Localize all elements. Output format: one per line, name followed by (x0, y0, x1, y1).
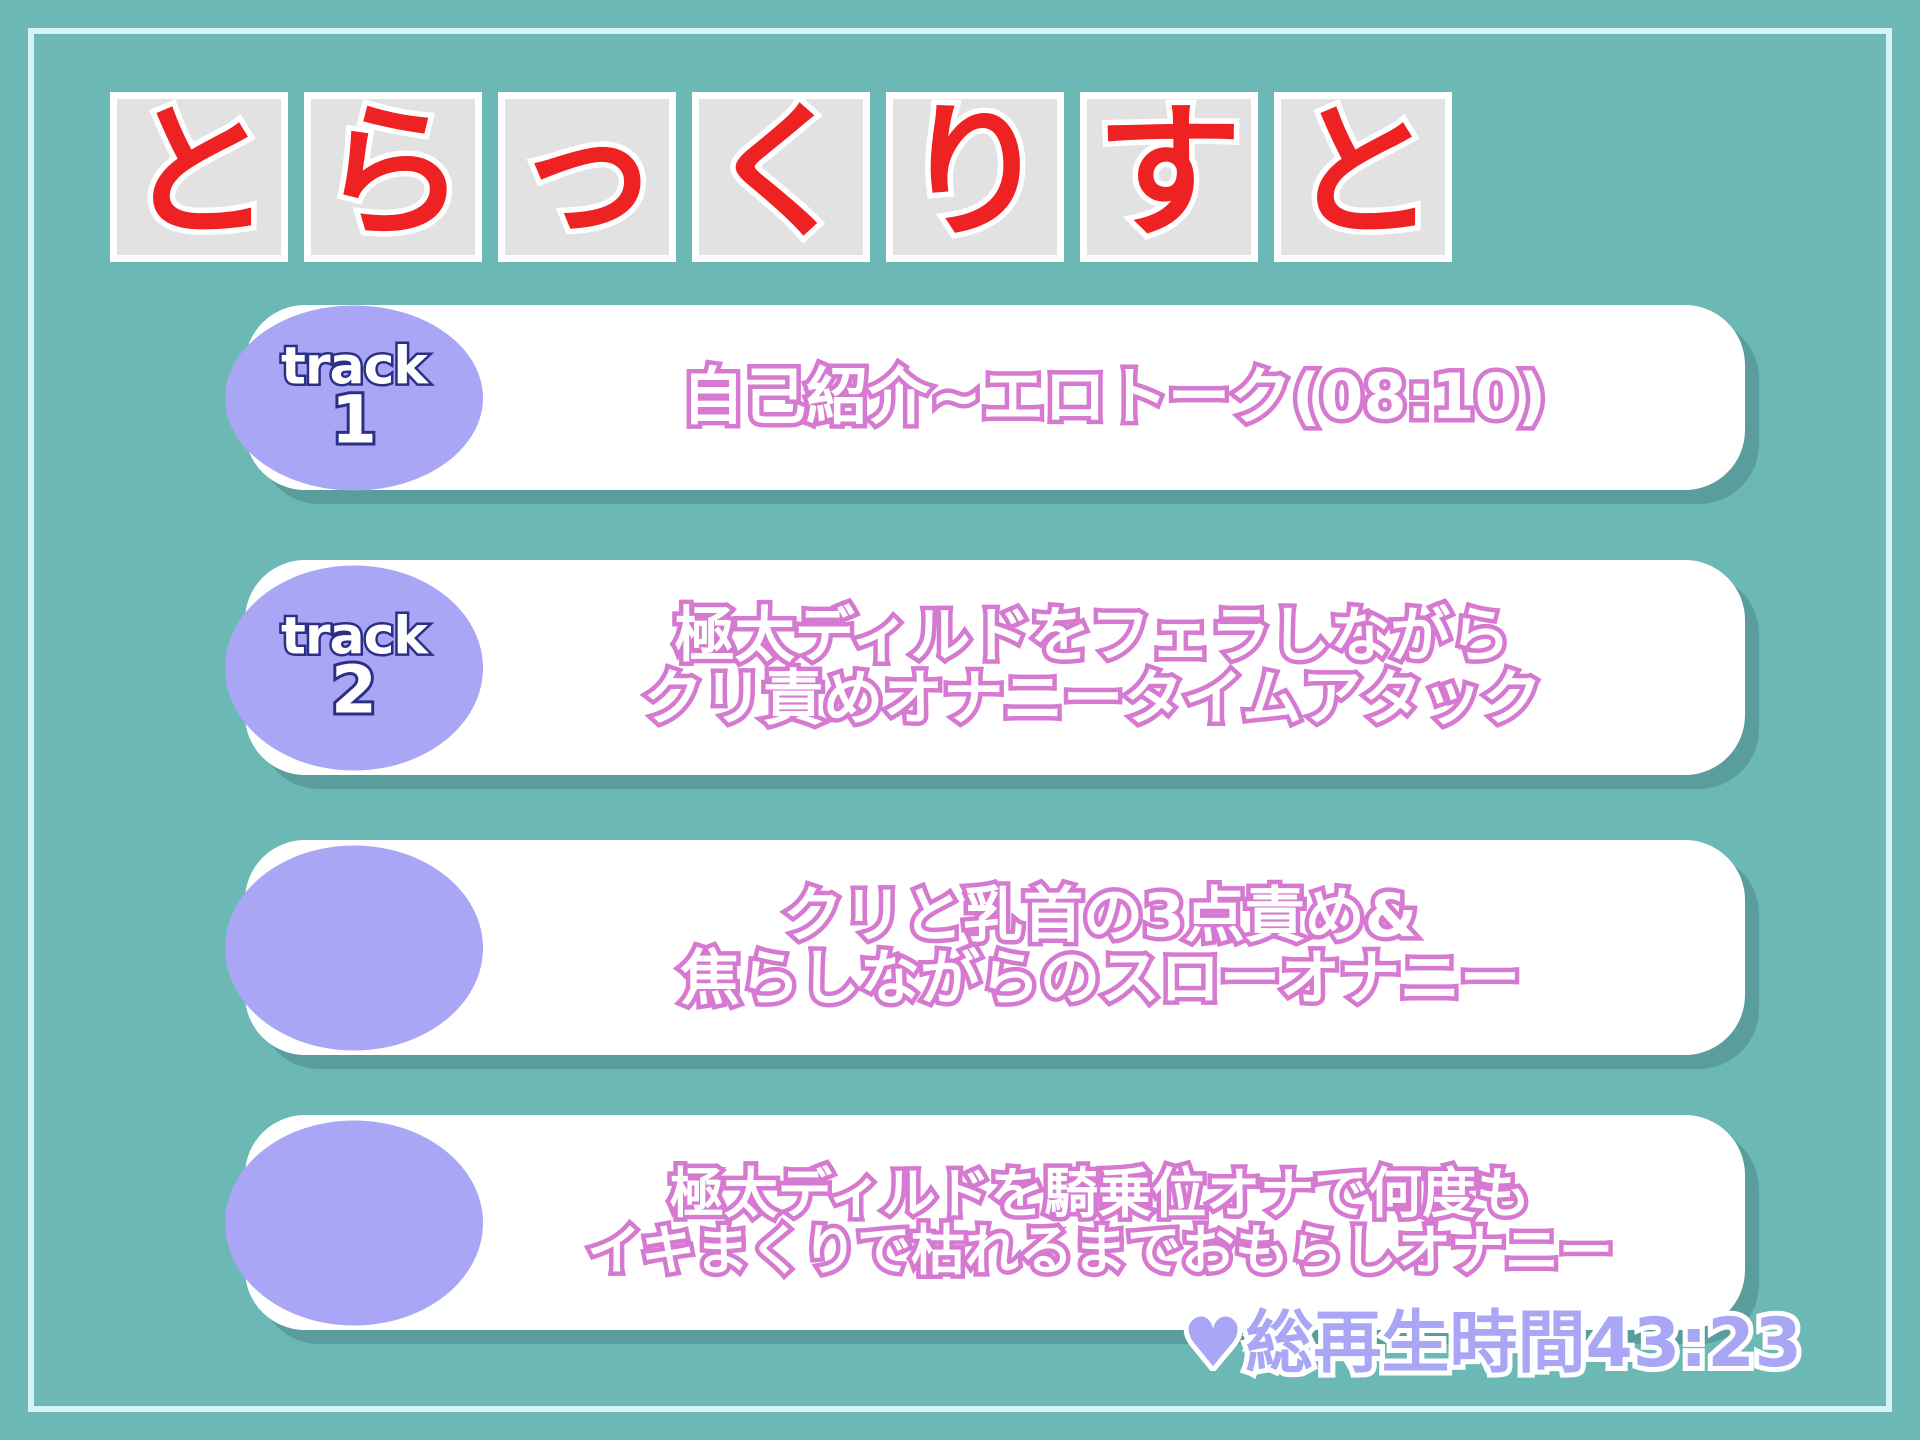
track-card[interactable]: track 2 極太ディルドをフェラしながら クリ責めオナニータイムアタック (245, 560, 1745, 775)
total-playtime-label: 総再生時間43:23 (1246, 1310, 1802, 1378)
title-tile: ら (304, 92, 482, 262)
title-character: く (708, 100, 854, 246)
title-tile: っ (498, 92, 676, 262)
track-badge: track 2 (225, 565, 483, 770)
track-title-line: クリと乳首の3点責め& (475, 885, 1725, 947)
track-title-line: 極太ディルドを騎乗位オナで何度も (475, 1166, 1725, 1222)
title-character: ら (320, 100, 466, 246)
total-playtime: ♥ 総再生時間43:23 (1183, 1310, 1802, 1378)
track-badge-number: 2 (331, 660, 377, 723)
title-character: り (902, 100, 1048, 246)
track-title-line: クリ責めオナニータイムアタック (455, 668, 1730, 730)
track-title-line: 自己紹介~エロトーク(08:10) (493, 365, 1735, 429)
title-tile: く (692, 92, 870, 262)
track-title-text: 極太ディルドを騎乗位オナで何度も イキまくりで枯れるまでおもらしオナニー (475, 1166, 1725, 1278)
track-badge-number: 1 (331, 390, 377, 453)
page-title: とらっくりすと (110, 92, 1452, 262)
title-character: と (126, 100, 272, 246)
track-title-text: 自己紹介~エロトーク(08:10) (493, 365, 1735, 429)
track-card[interactable]: 極太ディルドを騎乗位オナで何度も イキまくりで枯れるまでおもらしオナニー (245, 1115, 1745, 1330)
track-card[interactable]: track 1 自己紹介~エロトーク(08:10) (245, 305, 1745, 490)
title-tile: り (886, 92, 1064, 262)
title-tile: と (1274, 92, 1452, 262)
track-badge (225, 1120, 483, 1325)
title-tile: す (1080, 92, 1258, 262)
track-card[interactable]: クリと乳首の3点責め& 焦らしながらのスローオナニー (245, 840, 1745, 1055)
track-title-line: 極太ディルドをフェラしながら (455, 605, 1730, 667)
title-character: と (1290, 100, 1436, 246)
track-title-text: クリと乳首の3点責め& 焦らしながらのスローオナニー (475, 885, 1725, 1010)
track-title-line: 焦らしながらのスローオナニー (475, 948, 1725, 1010)
title-character: す (1096, 100, 1242, 246)
title-tile: と (110, 92, 288, 262)
track-badge (225, 845, 483, 1050)
track-title-line: イキまくりで枯れるまでおもらしオナニー (475, 1223, 1725, 1279)
track-title-text: 極太ディルドをフェラしながら クリ責めオナニータイムアタック (455, 605, 1730, 730)
title-character: っ (514, 100, 660, 246)
heart-icon: ♥ (1183, 1310, 1244, 1378)
track-badge: track 1 (225, 305, 483, 490)
